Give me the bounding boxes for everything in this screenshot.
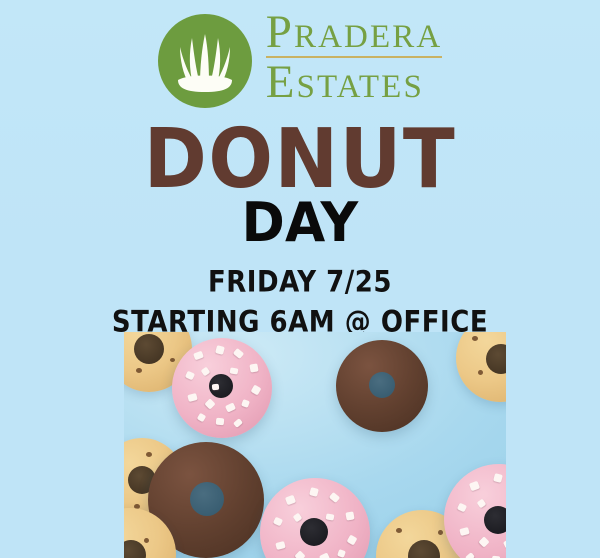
headline-day: DAY [0,196,600,251]
donut-chocolate-top [336,340,428,432]
brand-name-line-1: Pradera [266,10,443,55]
brand-lockup: Pradera Estates [0,8,600,113]
donut-pink-bottom-right [444,464,506,558]
donut-pink-top [172,338,272,438]
brand-wordmark: Pradera Estates [266,10,443,111]
donut-day-flyer: Pradera Estates DONUT DAY FRIDAY 7/25 ST… [0,0,600,558]
grass-blades-glyph [158,14,252,108]
brand-name-line-2: Estates [266,59,443,105]
donut-photo [124,332,506,558]
grass-tuft-icon [158,14,252,108]
headline-donut: DONUT [0,118,600,200]
event-date: FRIDAY 7/25 [0,268,600,297]
donut-plain-top-right [456,332,506,402]
photo-right-margin [506,332,600,558]
photo-left-margin [0,332,124,558]
donut-pink-bottom-mid [260,478,370,558]
